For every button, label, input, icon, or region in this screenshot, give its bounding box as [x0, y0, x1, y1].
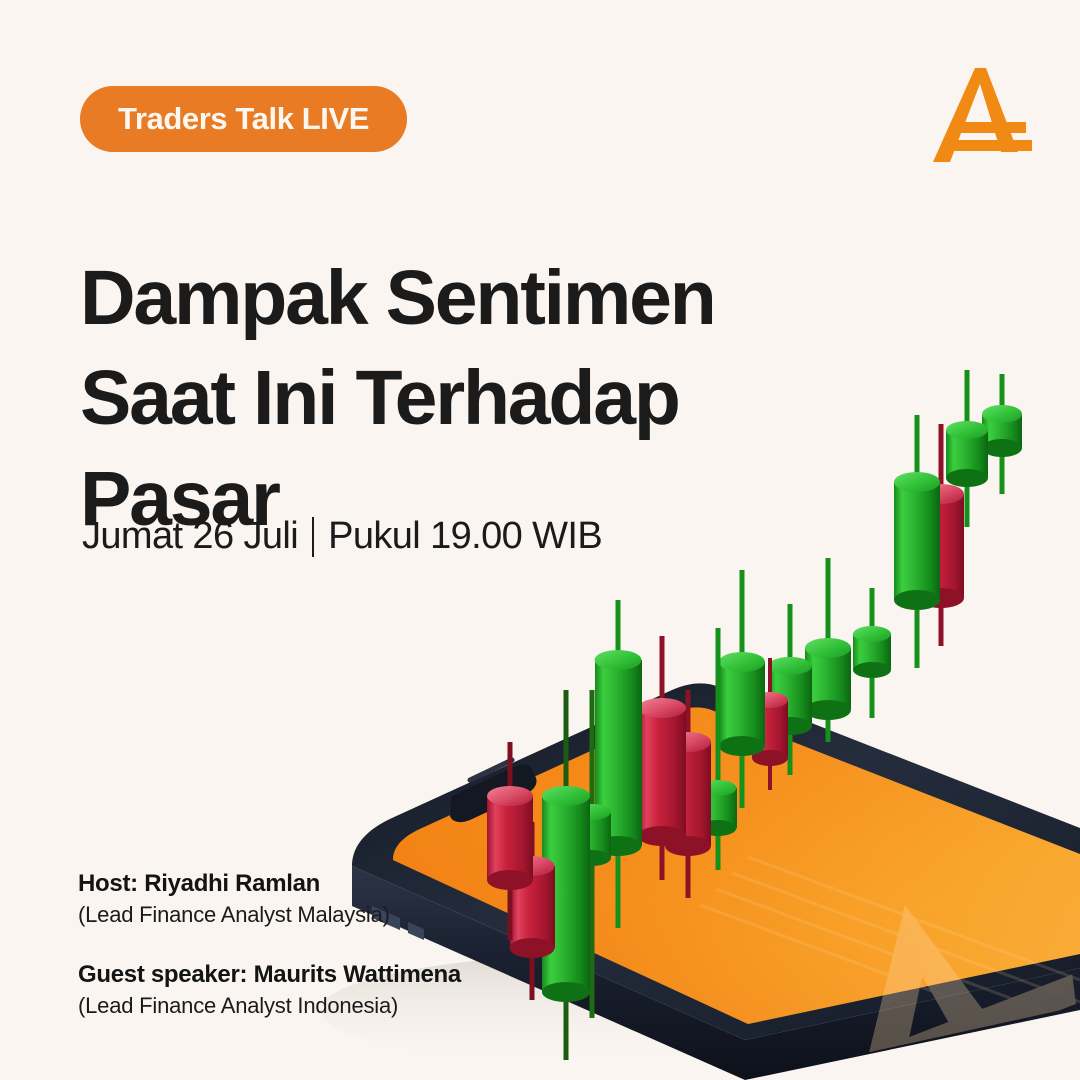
candle-green — [853, 588, 891, 718]
alpha-a-currency-logo-icon — [928, 62, 1038, 170]
candle-red — [487, 742, 533, 940]
credit-host-name: Host: Riyadhi Ramlan — [78, 868, 461, 900]
candle-green — [946, 370, 988, 527]
candle-red — [752, 658, 788, 790]
phone-device — [352, 683, 1080, 1080]
headline-line-2: Saat Ini Terhadap — [80, 348, 780, 449]
candle-green — [768, 604, 812, 775]
live-badge-label: Traders Talk LIVE — [118, 101, 369, 137]
candle-green — [595, 600, 643, 928]
candlestick-group-mid — [573, 600, 737, 1018]
headline-line-1: Dampak Sentimen — [80, 248, 780, 349]
candlestick-group-front — [487, 690, 590, 1060]
schedule-date: Jumat 26 Juli — [82, 515, 298, 558]
candle-red — [638, 636, 686, 880]
candle-red — [918, 424, 964, 646]
candle-green — [894, 415, 940, 668]
credit-guest-role: (Lead Finance Analyst Indonesia) — [78, 991, 461, 1022]
candle-green — [700, 628, 738, 870]
candle-red — [510, 822, 556, 1000]
candle-green — [805, 558, 851, 742]
logo-watermark — [700, 841, 1080, 1080]
candle-green — [542, 690, 590, 1060]
credit-guest: Guest speaker: Maurits Wattimena (Lead F… — [78, 959, 461, 1022]
schedule-separator — [312, 517, 314, 557]
credit-host-role: (Lead Finance Analyst Malaysia) — [78, 900, 461, 931]
candle-green — [982, 374, 1022, 494]
candle-green — [573, 690, 611, 1018]
live-badge: Traders Talk LIVE — [80, 86, 407, 152]
candle-green — [719, 570, 765, 808]
promo-poster: Traders Talk LIVE Dampak Sentimen Saat I… — [0, 0, 1080, 1080]
schedule-time: Pukul 19.00 WIB — [328, 515, 602, 558]
schedule-line: Jumat 26 Juli Pukul 19.00 WIB — [82, 515, 602, 558]
page-title: Dampak Sentimen Saat Ini Terhadap Pasar — [80, 248, 780, 551]
credit-guest-name: Guest speaker: Maurits Wattimena — [78, 959, 461, 991]
speaker-credits: Host: Riyadhi Ramlan (Lead Finance Analy… — [78, 868, 461, 1022]
credit-host: Host: Riyadhi Ramlan (Lead Finance Analy… — [78, 868, 461, 931]
candle-red — [665, 690, 711, 898]
